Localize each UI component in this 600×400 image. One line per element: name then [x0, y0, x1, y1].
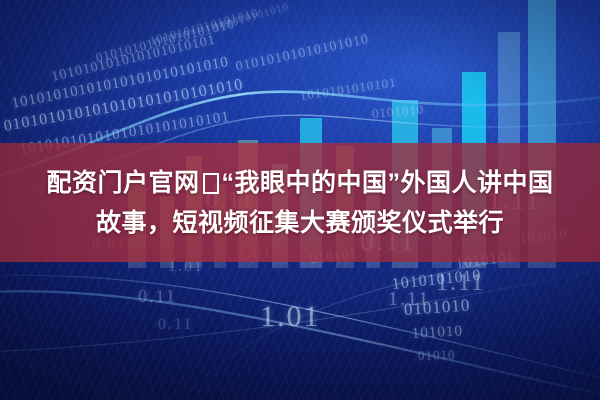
headline-line-1: 配资门户官网“我眼中的中国”外国人讲中国: [0, 163, 600, 203]
missing-glyph-icon: [203, 173, 219, 194]
headline-line-2: 故事，短视频征集大赛颁奖仪式举行: [0, 203, 600, 243]
headline-line1-suffix: “我眼中的中国”外国人讲中国: [222, 169, 554, 197]
headline-text: 配资门户官网“我眼中的中国”外国人讲中国 故事，短视频征集大赛颁奖仪式举行: [0, 163, 600, 243]
headline-banner: 配资门户官网“我眼中的中国”外国人讲中国 故事，短视频征集大赛颁奖仪式举行: [0, 143, 600, 262]
banner-image: 1010101010101010101010101001010101010101…: [0, 0, 600, 400]
headline-line1-prefix: 配资门户官网: [46, 169, 199, 197]
